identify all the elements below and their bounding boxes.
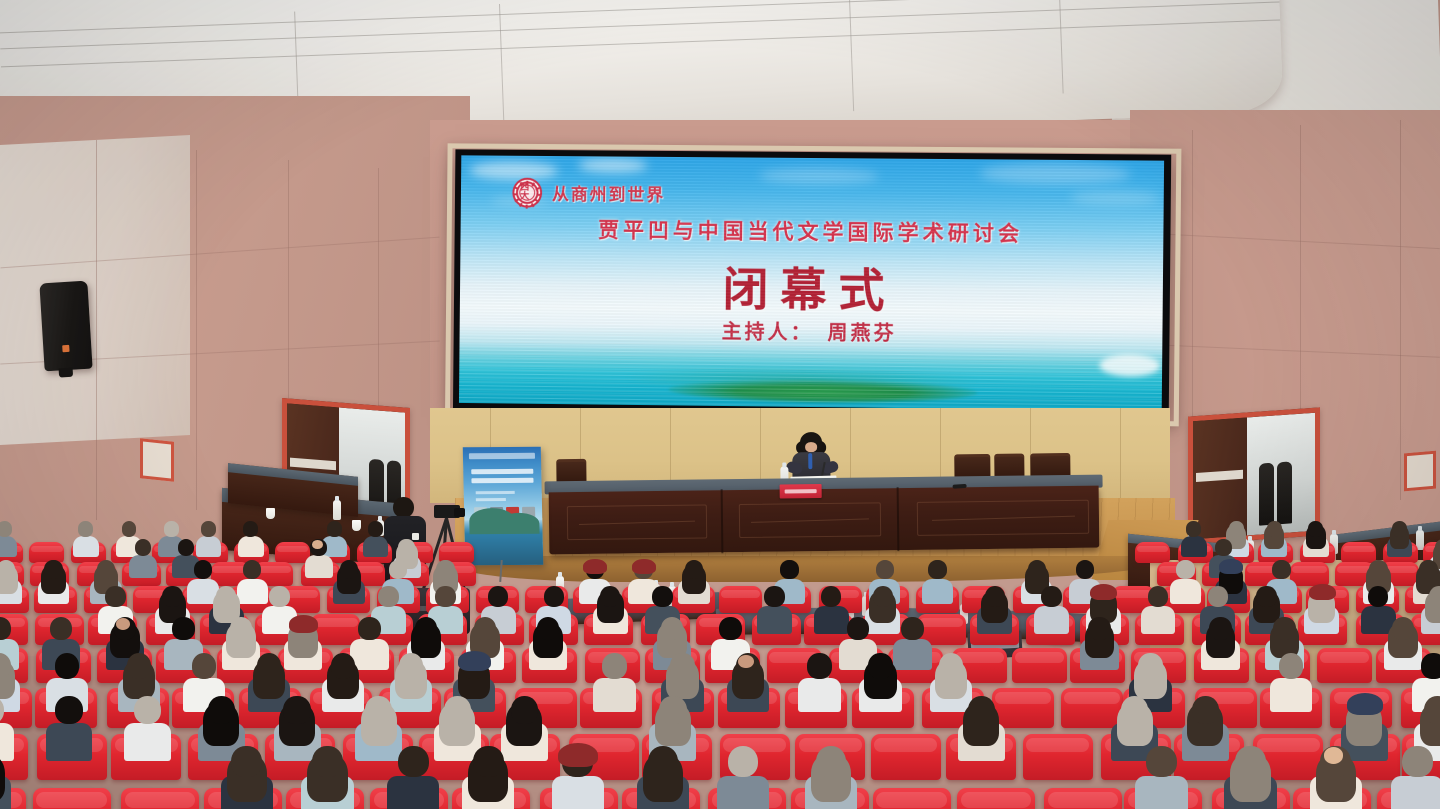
- audience-member: [593, 653, 637, 709]
- audience-torso: [552, 776, 604, 809]
- audience-head: [1267, 521, 1282, 536]
- audience-torso: [1135, 776, 1187, 809]
- audience-head-crown: [1324, 747, 1343, 763]
- banner-header-bar: [469, 453, 535, 459]
- audience-head: [327, 521, 342, 536]
- audience-member: [1309, 746, 1363, 809]
- paper-cup: [266, 508, 275, 519]
- seat-highlight: [721, 590, 760, 598]
- audience-head: [1279, 653, 1304, 679]
- audience-head: [97, 560, 115, 579]
- audience-head: [1121, 696, 1148, 724]
- audience-member: [220, 746, 274, 809]
- audience-torso: [1181, 536, 1207, 557]
- audience-head: [807, 653, 832, 679]
- wall-seam: [1400, 120, 1401, 500]
- audience-member: [1134, 746, 1188, 809]
- university-seal-icon: 西大: [512, 178, 542, 208]
- audience-member: [45, 696, 94, 757]
- audience-head: [230, 617, 252, 640]
- audience-head: [1146, 746, 1176, 777]
- audience-head: [928, 560, 946, 579]
- speaker-bracket: [59, 368, 74, 378]
- seat-highlight: [1048, 792, 1118, 808]
- audience-head: [1429, 586, 1440, 607]
- audience-head: [50, 617, 72, 640]
- audience-head: [648, 746, 678, 777]
- audience-torso: [1391, 776, 1440, 809]
- audience-head: [192, 653, 217, 679]
- screen-water-texture: [459, 321, 1163, 411]
- audience-head: [194, 560, 212, 579]
- audience-head: [764, 586, 784, 607]
- audience-member: [550, 746, 604, 809]
- audience-seat: [873, 788, 951, 809]
- banner-subtitle-line: [476, 491, 515, 494]
- audience-head: [685, 560, 703, 579]
- audience-member: [238, 521, 265, 555]
- banner-title-line: [471, 469, 533, 474]
- audience-head: [868, 653, 893, 679]
- audience-head: [1421, 653, 1440, 679]
- audience-member: [362, 521, 389, 555]
- audience-cap-icon: [458, 651, 491, 671]
- audience-cap-icon: [1090, 584, 1117, 600]
- audience-head: [378, 586, 398, 607]
- audience-torso: [922, 579, 953, 605]
- audience-member: [1181, 521, 1208, 555]
- audience-member: [128, 539, 157, 576]
- seat-highlight: [36, 792, 106, 808]
- audience-cap-icon: [1309, 584, 1336, 600]
- audience-head: [135, 539, 151, 556]
- banner-subtitle-line: [476, 498, 506, 501]
- audience-head-crown: [312, 540, 323, 549]
- doorway-opening: [1247, 413, 1315, 536]
- audience-head: [473, 746, 503, 777]
- audience-member: [678, 560, 711, 601]
- banner-title-line: [471, 478, 533, 483]
- seat-highlight: [125, 792, 195, 808]
- audience-member: [804, 746, 858, 809]
- wall-speaker-icon: [39, 281, 92, 372]
- audience-torso: [129, 555, 157, 578]
- audience-member: [528, 617, 568, 667]
- audience-head: [365, 696, 392, 724]
- stage-chair: [954, 454, 990, 478]
- audience-member: [1140, 586, 1176, 632]
- seat-highlight: [1343, 546, 1375, 552]
- fire-equipment-cabinet[interactable]: [140, 438, 174, 482]
- audience-head: [162, 586, 182, 607]
- audience-head: [985, 586, 1005, 607]
- audience-head: [269, 586, 289, 607]
- audience-head: [1392, 521, 1407, 536]
- audience-cap-icon: [583, 559, 607, 574]
- audience-member: [1261, 521, 1288, 555]
- audience-head: [1272, 560, 1290, 579]
- audience-head: [511, 696, 538, 724]
- audience-head: [1229, 521, 1244, 536]
- audience-head: [208, 696, 235, 724]
- audience-head: [358, 617, 380, 640]
- audience-head: [1369, 560, 1387, 579]
- audience-member: [957, 696, 1006, 757]
- audience-head: [1308, 521, 1323, 536]
- seat-highlight: [31, 546, 63, 552]
- audience-seat: [1023, 734, 1093, 780]
- audience-head: [939, 653, 964, 679]
- audience-seat: [871, 734, 941, 780]
- audience-head: [1235, 746, 1265, 777]
- audience-head: [1368, 586, 1388, 607]
- audience-head: [105, 586, 125, 607]
- audience-head: [1209, 617, 1231, 640]
- audience-member: [756, 586, 792, 632]
- audience-head: [389, 560, 407, 579]
- audience-torso: [757, 606, 792, 634]
- audience-head: [257, 653, 282, 679]
- seat-highlight: [440, 546, 472, 552]
- audience-head: [399, 653, 424, 679]
- audience-member: [304, 539, 333, 576]
- water-bottle: [333, 500, 341, 520]
- audience-head: [331, 653, 356, 679]
- seat-highlight: [1015, 652, 1065, 663]
- seat-highlight: [1320, 652, 1370, 663]
- audience-head: [670, 653, 695, 679]
- audience-member: [0, 521, 17, 555]
- audience-member: [1223, 746, 1277, 809]
- audience-member: [1201, 617, 1241, 667]
- audience-head: [876, 560, 894, 579]
- audience-torso: [73, 536, 99, 557]
- audience-torso: [717, 776, 769, 809]
- audience-head: [368, 521, 383, 536]
- audience-seat: [33, 788, 111, 809]
- audience-member: [1079, 617, 1119, 667]
- audience-head: [398, 539, 414, 556]
- led-presentation-screen[interactable]: 西大 从商州到世界 贾平凹与中国当代文学国际学术研讨会 闭幕式 主持人：周燕芬: [453, 149, 1171, 418]
- audience-head: [1186, 521, 1201, 536]
- camera-lens-icon: [454, 508, 465, 517]
- audience-head: [780, 560, 798, 579]
- audience-member: [333, 560, 366, 601]
- audience-torso: [1141, 606, 1176, 634]
- audience-torso: [238, 536, 264, 557]
- audience-head: [1192, 696, 1219, 724]
- audience-head: [1424, 696, 1440, 724]
- audience-member: [921, 560, 954, 601]
- stage-chair: [1030, 453, 1070, 477]
- audience-head: [1273, 617, 1295, 640]
- red-name-placard: [780, 484, 822, 499]
- seat-highlight: [1026, 738, 1089, 752]
- screen-content: 西大 从商州到世界 贾平凹与中国当代文学国际学术研讨会 闭幕式 主持人：周燕芬: [459, 155, 1164, 411]
- stage-chair: [994, 454, 1024, 478]
- audience-head: [44, 560, 62, 579]
- audience-member: [1302, 521, 1329, 555]
- audience-seat: [1317, 648, 1372, 683]
- audience-head: [1402, 746, 1432, 777]
- audience-seat: [957, 788, 1035, 809]
- speaker-led-indicator: [62, 345, 69, 352]
- audience-head: [1392, 617, 1414, 640]
- audience-torso: [0, 536, 17, 557]
- audience-torso: [593, 678, 635, 713]
- door-push-bar: [1196, 470, 1243, 483]
- audience-head: [243, 560, 261, 579]
- audience-member: [0, 746, 12, 809]
- seat-highlight: [874, 738, 937, 752]
- auditorium-photo: 西大 从商州到世界 贾平凹与中国当代文学国际学术研讨会 闭幕式 主持人：周燕芬: [0, 0, 1440, 809]
- audience-torso: [305, 555, 333, 578]
- audience-member: [977, 586, 1013, 632]
- audience-member: [300, 746, 354, 809]
- audience-head: [602, 653, 627, 679]
- audience-head: [544, 586, 564, 607]
- audience-member: [1390, 746, 1440, 809]
- audience-head: [122, 521, 137, 536]
- audience-head: [201, 521, 216, 536]
- audience-head: [0, 617, 11, 640]
- audience-head: [436, 560, 454, 579]
- audience-head: [55, 653, 80, 679]
- screen-org-line: 从商州到世界: [552, 180, 665, 206]
- left-wall-light-panel: [0, 135, 190, 445]
- videographer-head: [393, 497, 414, 518]
- audience-head: [444, 696, 471, 724]
- audience-head: [816, 746, 846, 777]
- audience-member: [123, 696, 172, 757]
- audience-cap-icon: [558, 743, 598, 768]
- audience-member: [461, 746, 515, 809]
- audience-head: [1041, 586, 1061, 607]
- audience-head: [0, 696, 4, 724]
- audience-member: [1386, 521, 1413, 555]
- audience-torso: [1034, 606, 1069, 634]
- audience-member: [726, 653, 770, 709]
- audience-member: [1304, 586, 1340, 632]
- audience-head: [127, 653, 152, 679]
- audience-head: [1176, 560, 1194, 579]
- audience-seat: [121, 788, 199, 809]
- audience-member: [386, 746, 440, 809]
- audience-head: [661, 617, 683, 640]
- audience-head: [55, 696, 82, 724]
- audience-head: [415, 617, 437, 640]
- audience-torso: [798, 678, 840, 713]
- audience-head: [1215, 539, 1231, 556]
- audience-head: [847, 617, 869, 640]
- audience-head: [0, 521, 12, 536]
- audience-head: [78, 521, 93, 536]
- presenter-face: [805, 442, 817, 452]
- audience-head: [398, 746, 428, 777]
- audience-head: [134, 696, 161, 724]
- audience-member: [1269, 653, 1313, 709]
- screen-session-title: 闭幕式: [722, 253, 897, 321]
- audience-member: [0, 560, 23, 601]
- audience-head: [728, 746, 758, 777]
- seat-highlight: [961, 792, 1031, 808]
- audience-head: [1435, 539, 1440, 556]
- door-push-bar: [290, 457, 336, 470]
- fire-equipment-cabinet[interactable]: [1404, 451, 1436, 492]
- audience-cap-icon: [1347, 693, 1383, 715]
- audience-cap-icon: [632, 559, 656, 574]
- audience-head: [821, 586, 841, 607]
- wall-seam: [96, 140, 97, 520]
- audience-head: [659, 696, 686, 724]
- audience-head: [172, 617, 194, 640]
- audience-torso: [124, 723, 171, 761]
- audience-head: [901, 617, 923, 640]
- seal-glyph: 西大: [520, 184, 534, 202]
- audience-seat: [1012, 648, 1067, 683]
- audience-head: [474, 617, 496, 640]
- audience-head: [178, 539, 194, 556]
- audience-head: [435, 586, 455, 607]
- audience-member: [592, 586, 628, 632]
- audience-head: [1138, 653, 1163, 679]
- audience-member: [716, 746, 770, 809]
- audience-member: [73, 521, 100, 555]
- audience-torso: [387, 776, 439, 809]
- screen-conference-title: 贾平凹与中国当代文学国际学术研讨会: [598, 214, 1023, 248]
- seat-highlight: [876, 792, 946, 808]
- seated-audience: [0, 520, 1440, 809]
- audience-member: [858, 653, 902, 709]
- audience-torso: [363, 536, 389, 557]
- audience-head: [1256, 586, 1276, 607]
- stage-chair: [556, 459, 586, 483]
- audience-torso: [46, 723, 93, 761]
- audience-head: [968, 696, 995, 724]
- audience-head: [873, 586, 893, 607]
- audience-head: [600, 586, 620, 607]
- audience-head: [1028, 560, 1046, 579]
- audience-member: [1421, 586, 1440, 632]
- audience-member: [636, 746, 690, 809]
- audience-head: [283, 696, 310, 724]
- audience-member: [37, 560, 70, 601]
- audience-head: [1088, 617, 1110, 640]
- audience-seat: [1135, 542, 1170, 563]
- audience-head: [231, 746, 261, 777]
- seal-inner-ring: 西大: [519, 185, 535, 201]
- audience-head: [652, 586, 672, 607]
- audience-member: [1033, 586, 1069, 632]
- audience-seat: [1044, 788, 1122, 809]
- audience-head: [1076, 560, 1094, 579]
- audience-head: [1208, 586, 1228, 607]
- audience-head: [719, 617, 741, 640]
- audience-head: [1419, 560, 1437, 579]
- audience-head: [164, 521, 179, 536]
- audience-head: [340, 560, 358, 579]
- corridor-chair: [1277, 462, 1292, 524]
- audience-head: [1148, 586, 1168, 607]
- audience-cap-icon: [289, 615, 319, 633]
- seat-highlight: [1137, 546, 1169, 552]
- audience-head: [243, 521, 258, 536]
- wall-seam: [196, 150, 197, 510]
- audience-head: [312, 746, 342, 777]
- audience-head: [216, 586, 236, 607]
- audience-head: [488, 586, 508, 607]
- audience-cap-icon: [1219, 559, 1243, 574]
- corridor-chair: [1259, 463, 1274, 525]
- audience-torso: [1270, 678, 1312, 713]
- audience-head: [537, 617, 559, 640]
- audience-member: [797, 653, 841, 709]
- presenter-lanyard: [808, 453, 812, 469]
